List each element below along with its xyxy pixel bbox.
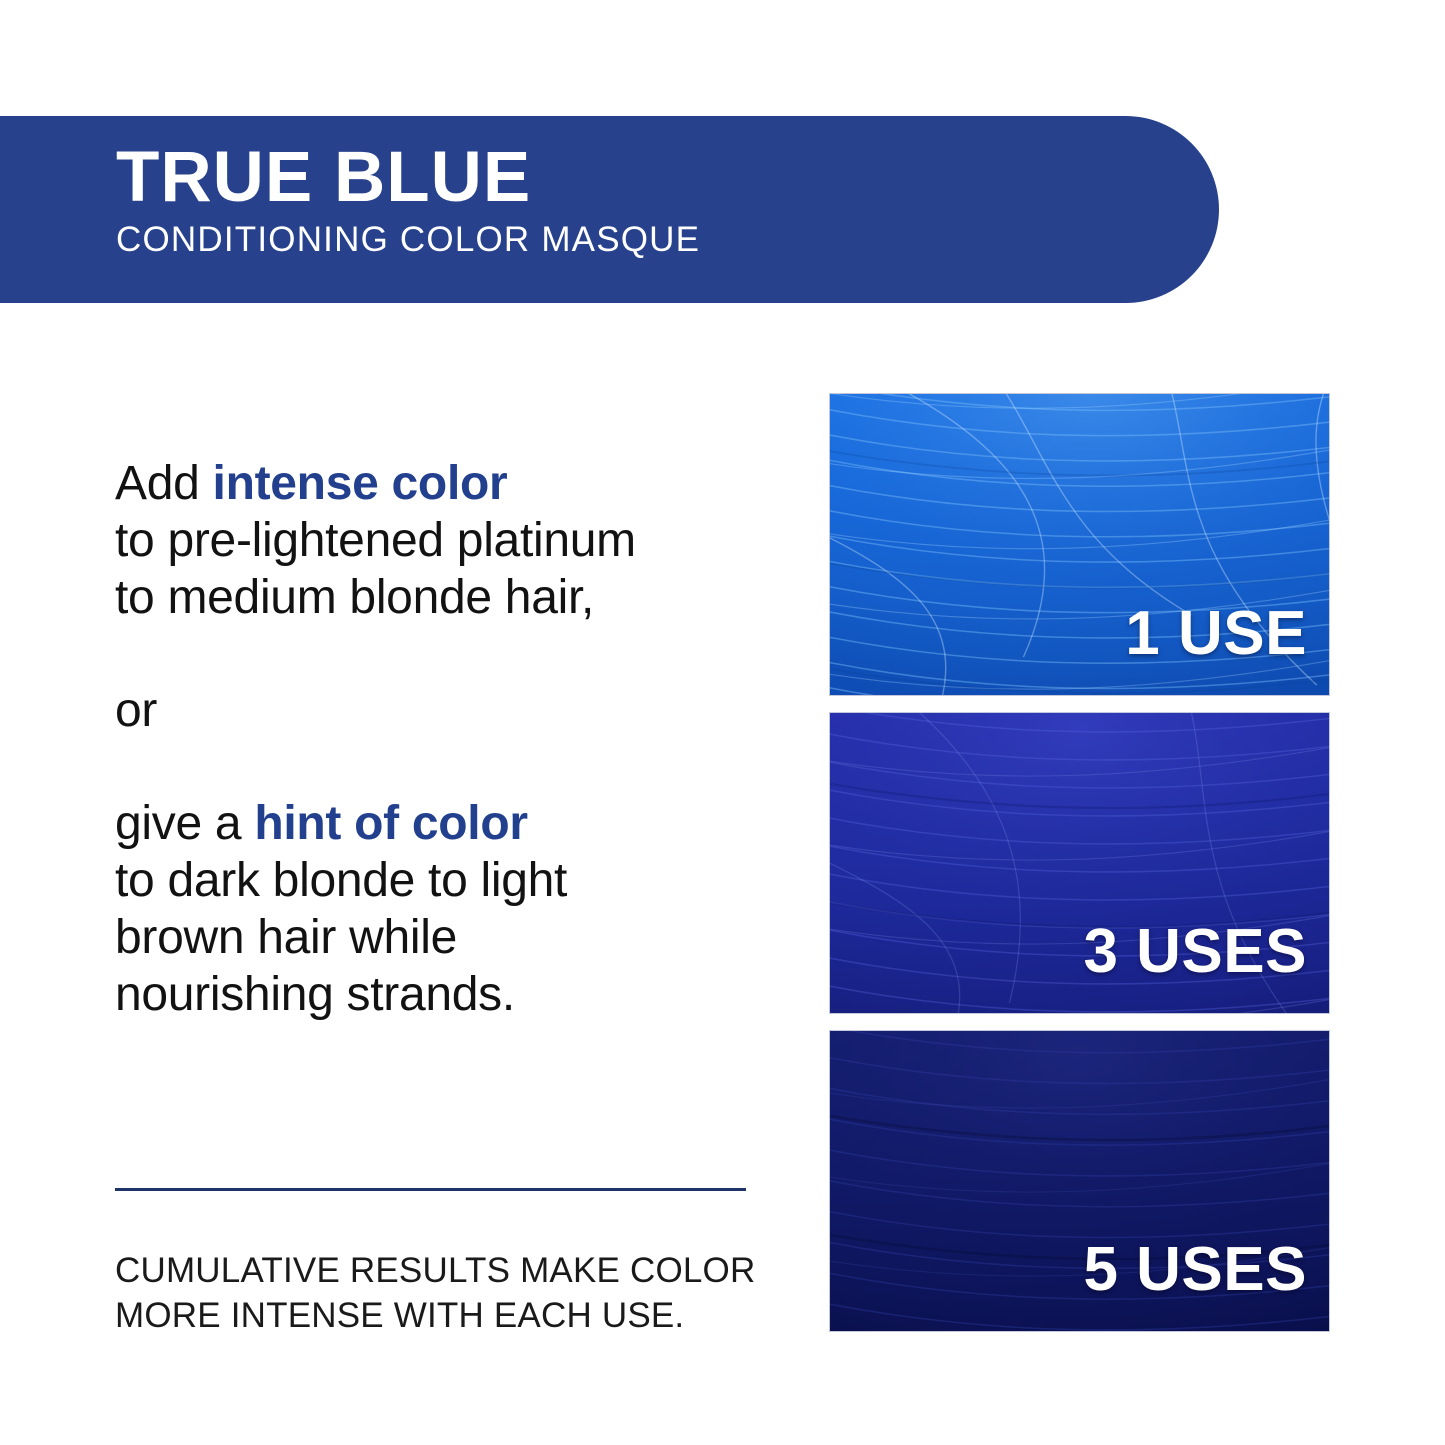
paragraph-2-line-3: brown hair while — [115, 911, 457, 964]
spacer-2 — [115, 739, 775, 795]
footnote-line-2: MORE INTENSE WITH EACH USE. — [115, 1296, 684, 1335]
spacer-1 — [115, 626, 775, 682]
page-subtitle: CONDITIONING COLOR MASQUE — [116, 222, 700, 257]
divider-rule — [115, 1188, 746, 1191]
footnote-text: CUMULATIVE RESULTS MAKE COLOR MORE INTEN… — [115, 1248, 795, 1338]
paragraph-intense-color: Add intense color to pre-lightened plati… — [115, 455, 775, 626]
paragraph-2-accent-phrase: hint of color — [254, 797, 527, 850]
paragraph-2-line-4: nourishing strands. — [115, 968, 515, 1021]
swatch-1-label: 1 USE — [1125, 603, 1307, 665]
paragraph-1-lead-plain: Add — [115, 457, 213, 510]
footnote-line-1: CUMULATIVE RESULTS MAKE COLOR — [115, 1251, 755, 1290]
copy-column: Add intense color to pre-lightened plati… — [115, 455, 775, 1023]
paragraph-hint-of-color: give a hint of color to dark blonde to l… — [115, 795, 775, 1023]
paragraph-1-line-2: to pre-lightened platinum — [115, 514, 636, 567]
paragraph-2-lead-plain: give a — [115, 797, 254, 850]
page-title: TRUE BLUE — [116, 142, 700, 213]
connector-word: or — [115, 684, 157, 737]
swatch-2-label: 3 USES — [1083, 921, 1307, 983]
header-banner: TRUE BLUE CONDITIONING COLOR MASQUE — [0, 116, 1219, 303]
paragraph-1-accent-phrase: intense color — [213, 457, 508, 510]
paragraph-1-line-3: to medium blonde hair, — [115, 571, 594, 624]
paragraph-2-line-2: to dark blonde to light — [115, 854, 567, 907]
swatch-5-uses: 5 USES — [829, 1030, 1330, 1332]
swatch-1-use: 1 USE — [829, 393, 1330, 696]
paragraph-connector: or — [115, 682, 775, 739]
swatch-3-label: 5 USES — [1083, 1239, 1307, 1301]
swatch-stack: 1 USE — [829, 393, 1330, 1332]
swatch-3-uses: 3 USES — [829, 712, 1330, 1014]
header-text-group: TRUE BLUE CONDITIONING COLOR MASQUE — [116, 142, 700, 257]
